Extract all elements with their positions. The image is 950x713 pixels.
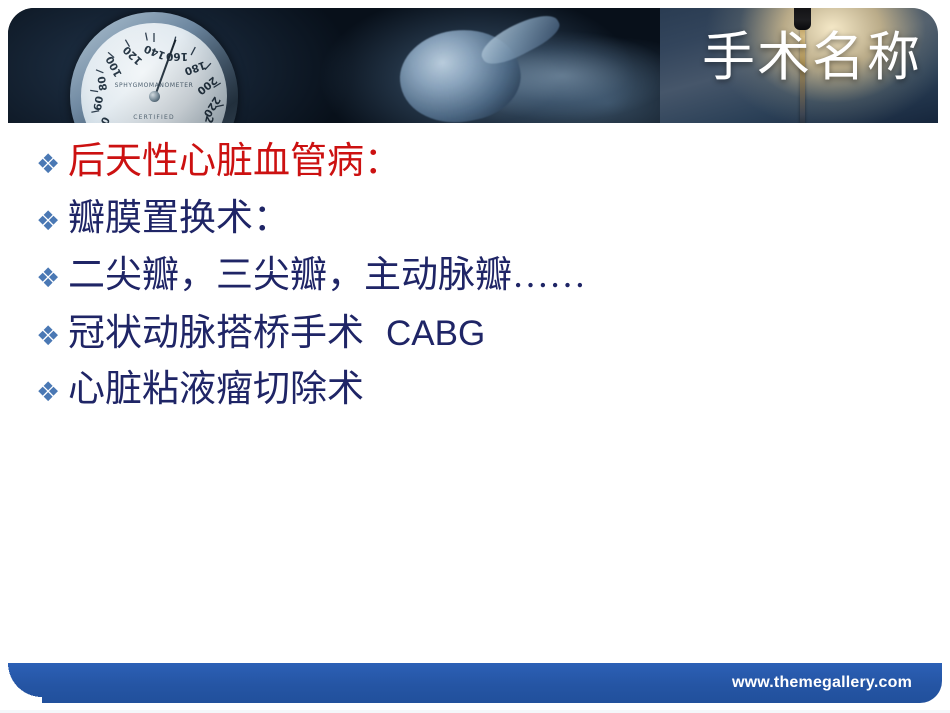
svg-text:SPHYGMOMANOMETER: SPHYGMOMANOMETER [115, 82, 194, 89]
bullet-list: ❖ 后天性心脏血管病： ❖ 瓣膜置换术： ❖ 二尖瓣，三尖瓣，主动脉瓣…… ❖ … [36, 143, 916, 428]
svg-text:40: 40 [96, 115, 113, 123]
svg-text:200: 200 [195, 74, 220, 97]
svg-text:60: 60 [92, 95, 106, 111]
list-item: ❖ 心脏粘液瘤切除术 [36, 371, 916, 428]
slide-title: 手术名称 [702, 32, 922, 85]
needle-hub-cap [794, 8, 811, 30]
blood-pressure-gauge-photo: 20 40 60 80 100 120 140 160 180 200 220 … [8, 8, 660, 123]
svg-text:100: 100 [104, 54, 125, 79]
diamond-bullet-icon: ❖ [36, 265, 68, 292]
footer-website-link[interactable]: www.themegallery.com [732, 663, 912, 703]
diamond-bullet-icon: ❖ [36, 208, 68, 235]
list-item: ❖ 二尖瓣，三尖瓣，主动脉瓣…… [36, 257, 916, 314]
list-item: ❖ 冠状动脉搭桥手术 CABG [36, 314, 916, 371]
svg-text:CERTIFIED: CERTIFIED [133, 114, 175, 121]
sphygmomanometer-gauge: 20 40 60 80 100 120 140 160 180 200 220 … [70, 12, 242, 123]
svg-text:80: 80 [96, 75, 110, 91]
svg-text:240: 240 [199, 115, 216, 123]
bullet-text: 二尖瓣，三尖瓣，主动脉瓣…… [68, 257, 586, 294]
diamond-bullet-icon: ❖ [36, 323, 68, 350]
svg-text:140: 140 [142, 42, 167, 61]
bullet-text: 瓣膜置换术： [68, 200, 290, 237]
list-item: ❖ 瓣膜置换术： [36, 200, 916, 257]
bullet-text: 冠状动脉搭桥手术 [68, 315, 364, 352]
footer-bar: www.themegallery.com [8, 663, 942, 703]
gauge-dial-face: 20 40 60 80 100 120 140 160 180 200 220 … [81, 23, 227, 123]
svg-text:120: 120 [121, 43, 145, 67]
diamond-bullet-icon: ❖ [36, 151, 68, 178]
presentation-slide: 20 40 60 80 100 120 140 160 180 200 220 … [0, 0, 950, 713]
gauge-hub [149, 91, 160, 102]
bullet-text: 心脏粘液瘤切除术 [68, 371, 364, 408]
header-banner: 20 40 60 80 100 120 140 160 180 200 220 … [8, 8, 938, 123]
bullet-text-latin: CABG [364, 314, 485, 354]
list-item: ❖ 后天性心脏血管病： [36, 143, 916, 200]
diamond-bullet-icon: ❖ [36, 379, 68, 406]
bullet-text: 后天性心脏血管病： [68, 143, 401, 180]
